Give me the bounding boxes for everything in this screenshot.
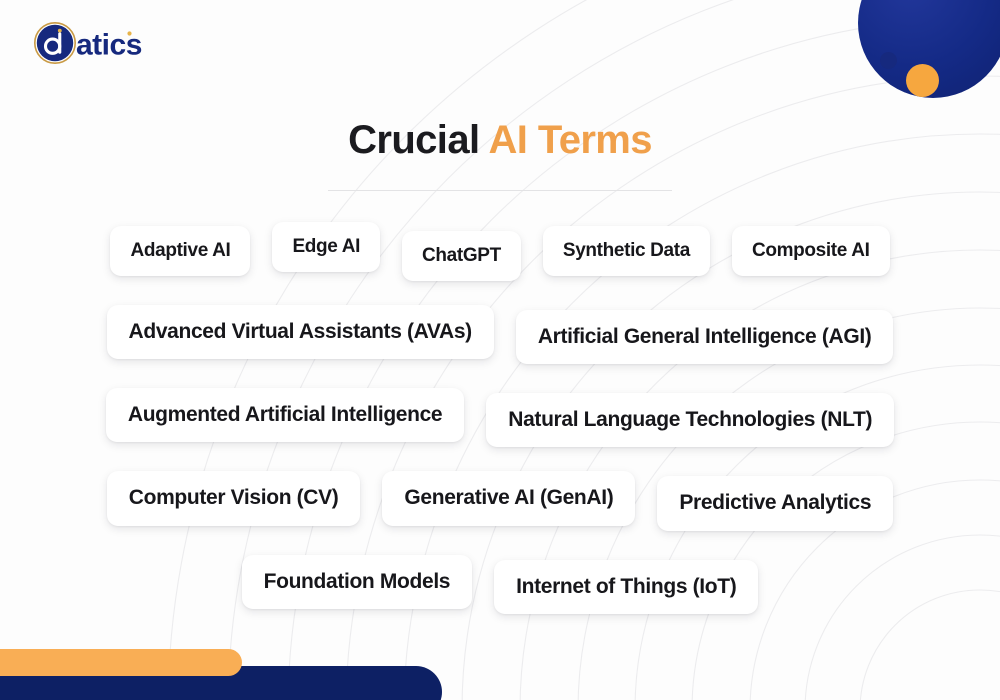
ai-term-chip[interactable]: Predictive Analytics [657, 476, 893, 530]
ai-term-chip[interactable]: ChatGPT [402, 231, 521, 281]
ai-term-chip[interactable]: Composite AI [732, 226, 890, 276]
ai-term-chip[interactable]: Artificial General Intelligence (AGI) [516, 310, 894, 364]
page-title-wrap: Crucial AI Terms [0, 118, 1000, 162]
ai-terms-row: Foundation ModelsInternet of Things (IoT… [44, 555, 956, 614]
navy-dot-decoration [880, 52, 897, 69]
ai-term-chip[interactable]: Internet of Things (IoT) [494, 560, 758, 614]
ai-terms-row: Adaptive AIEdge AIChatGPTSynthetic DataC… [44, 226, 956, 281]
ai-terms-list: Adaptive AIEdge AIChatGPTSynthetic DataC… [0, 226, 1000, 638]
ai-terms-row: Advanced Virtual Assistants (AVAs)Artifi… [44, 305, 956, 364]
brand-logo[interactable]: atics [33, 21, 173, 65]
ai-term-chip[interactable]: Computer Vision (CV) [107, 471, 361, 525]
ai-term-chip[interactable]: Adaptive AI [110, 226, 250, 276]
ai-term-chip[interactable]: Generative AI (GenAI) [382, 471, 635, 525]
ai-term-chip[interactable]: Advanced Virtual Assistants (AVAs) [107, 305, 494, 359]
page-title-accent: AI Terms [489, 118, 652, 162]
ai-term-chip[interactable]: Foundation Models [242, 555, 473, 609]
page-title: Crucial AI Terms [0, 118, 1000, 162]
orange-circle-decoration [906, 64, 939, 97]
circle-d-logo-icon: atics [33, 21, 173, 65]
orange-bar-decoration [0, 649, 242, 676]
page-title-primary: Crucial [348, 118, 479, 162]
ai-term-chip[interactable]: Edge AI [272, 222, 380, 272]
svg-text:atics: atics [76, 29, 142, 62]
ai-term-chip[interactable]: Natural Language Technologies (NLT) [486, 393, 894, 447]
ai-terms-row: Augmented Artificial IntelligenceNatural… [44, 388, 956, 447]
ai-term-chip[interactable]: Augmented Artificial Intelligence [106, 388, 464, 442]
ai-term-chip[interactable]: Synthetic Data [543, 226, 710, 276]
title-divider [328, 190, 672, 191]
ai-terms-row: Computer Vision (CV)Generative AI (GenAI… [44, 471, 956, 530]
